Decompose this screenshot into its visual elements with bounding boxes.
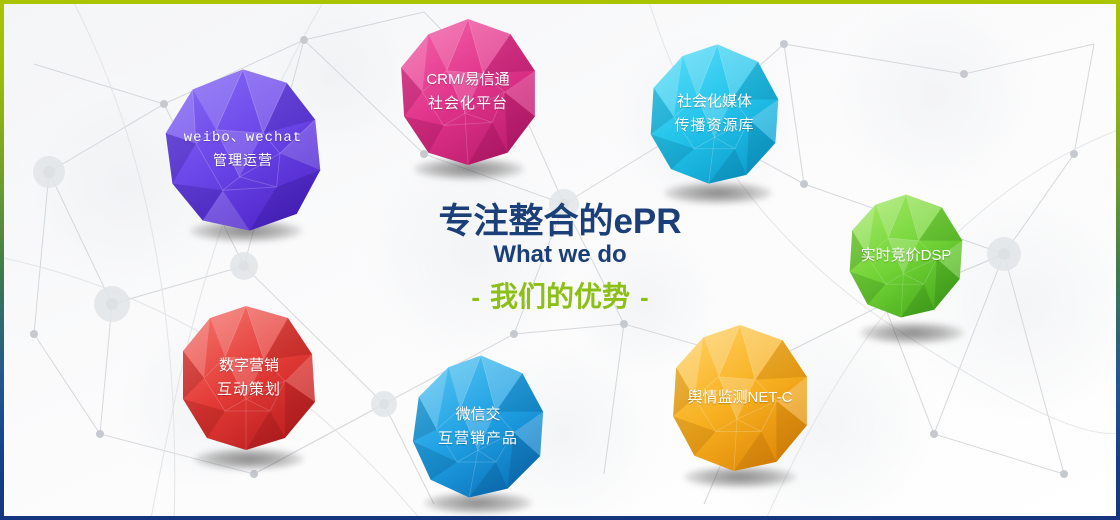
node-sentiment-monitor[interactable]: 舆情监测NET-C [664,314,816,482]
polygon-shape-cyan [642,34,787,194]
polygon-shape-pink [392,12,544,172]
polygon-shape-red [174,294,324,462]
node-weibo-wechat[interactable]: weibo、wechat 管理运营 [159,66,327,234]
node-social-media-resource[interactable]: 社会化媒体 传播资源库 [642,34,787,194]
polygon-shape-purple [159,66,327,234]
polygon-shape-orange [664,314,816,482]
gradient-frame: weibo、wechat 管理运营 [0,0,1120,520]
node-crm-yixintong[interactable]: CRM/易信通 社会化平台 [392,12,544,172]
polygon-shape-blue [404,344,552,509]
node-digital-marketing[interactable]: 数字营销 互动策划 [174,294,324,462]
node-wechat-interactive[interactable]: 微信交 互营销产品 [404,344,552,509]
polygon-shape-green [842,176,970,336]
banner-canvas: weibo、wechat 管理运营 [4,4,1116,516]
node-realtime-bidding-dsp[interactable]: 实时竞价DSP [842,176,970,336]
banner-stage: weibo、wechat 管理运营 [0,0,1120,520]
